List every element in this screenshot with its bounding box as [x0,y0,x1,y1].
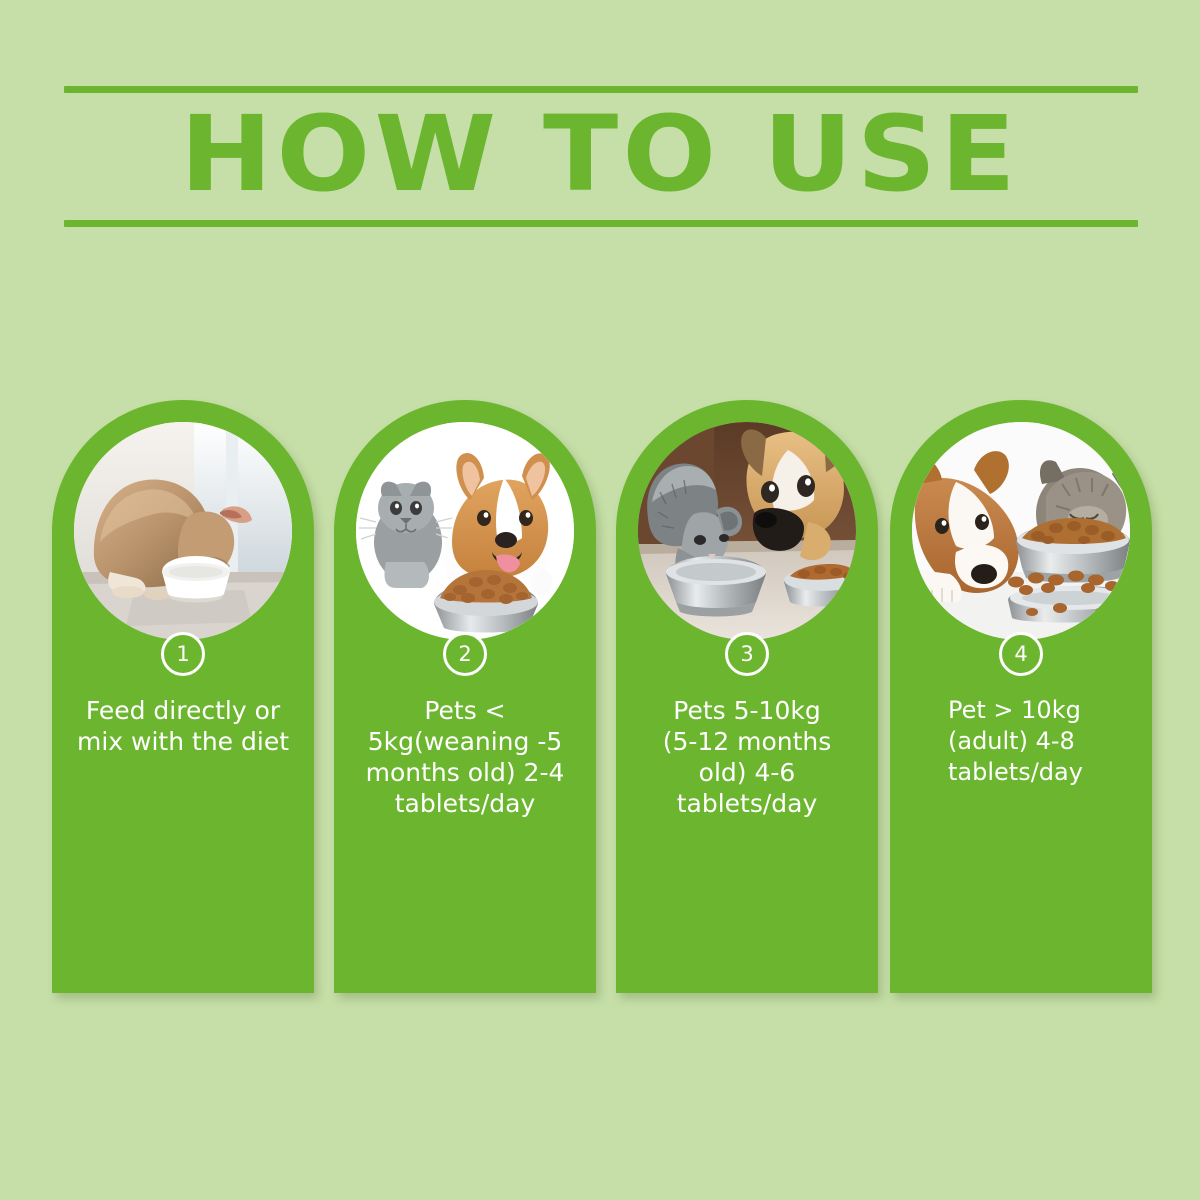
step-description: Pet > 10kg (adult) 4-8 tablets/day [890,695,1152,788]
step-card-1: 1 Feed directly or mix with the diet [52,400,314,993]
step-card-2: 2 Pets < 5kg(weaning -5 months old) 2-4 … [334,400,596,993]
step-description: Pets < 5kg(weaning -5 months old) 2-4 ta… [334,695,596,819]
steps-container: 1 Feed directly or mix with the diet [0,0,1200,1200]
step-card-4: 4 Pet > 10kg (adult) 4-8 tablets/day [890,400,1152,993]
cat-and-dog-eating-from-steel-bowls-photo [638,422,856,640]
kitten-and-corgi-puppy-with-food-bowl-photo [356,422,574,640]
step-number-badge: 3 [725,632,769,676]
step-card-3: 3 Pets 5-10kg (5-12 months old) 4-6 tabl… [616,400,878,993]
step-description: Feed directly or mix with the diet [52,695,314,757]
dog-and-cat-eating-kibble-photo [912,422,1130,640]
step-number-badge: 2 [443,632,487,676]
step-number-badge: 1 [161,632,205,676]
step-number-badge: 4 [999,632,1043,676]
step-description: Pets 5-10kg (5-12 months old) 4-6 tablet… [616,695,878,819]
how-to-use-infographic: HOW TO USE [0,0,1200,1200]
cat-eating-from-white-bowl-photo [74,422,292,640]
